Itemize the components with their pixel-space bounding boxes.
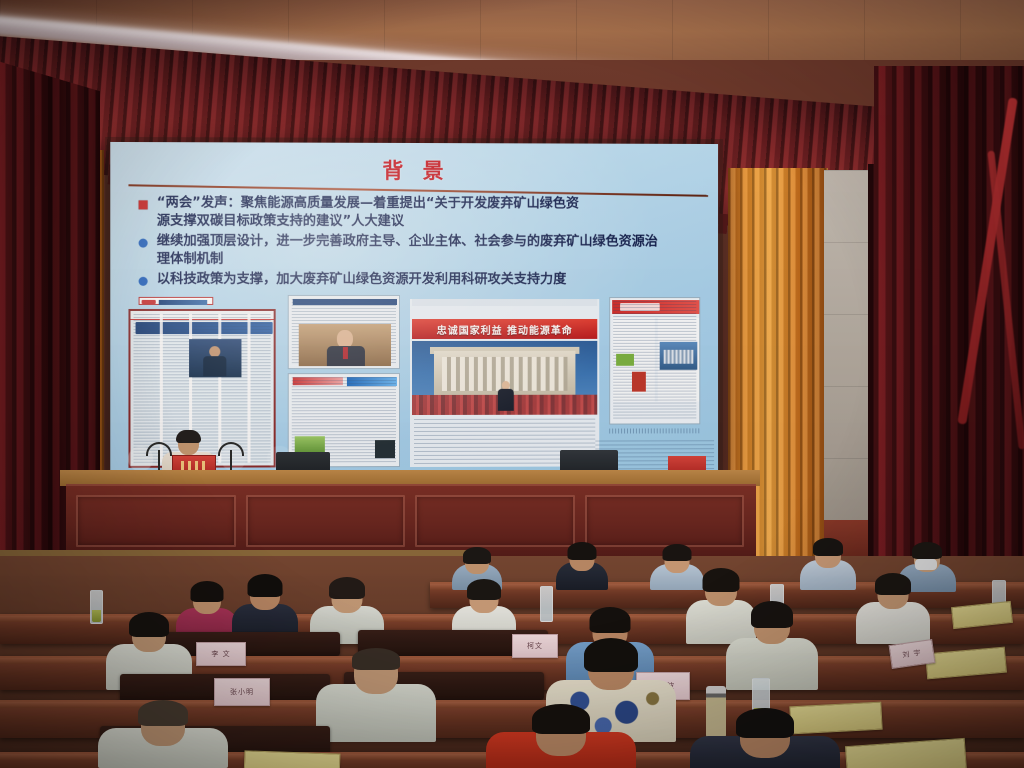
audience-hair bbox=[663, 544, 692, 561]
audience-hair bbox=[590, 607, 631, 633]
name-card-text: 李 文 bbox=[211, 649, 230, 659]
auditorium-photo: 背 景 “两会”发声：聚焦能源高质量发展—着重提出“关于开发废弃矿山绿色资 源支… bbox=[0, 0, 1024, 768]
audience-member bbox=[690, 716, 840, 768]
audience-hair bbox=[912, 542, 942, 559]
audience-hair bbox=[751, 601, 793, 628]
wall-gap bbox=[824, 170, 874, 555]
name-card: 李 文 bbox=[196, 642, 246, 666]
audience-member-bald bbox=[316, 652, 436, 742]
face-mask bbox=[915, 559, 937, 570]
audience-member bbox=[556, 546, 608, 590]
name-card-text: 张小明 bbox=[230, 687, 254, 697]
audience-hair bbox=[463, 547, 491, 564]
audience-member bbox=[98, 706, 228, 768]
wall-panel-lines bbox=[824, 170, 874, 555]
audience-hair bbox=[875, 573, 911, 595]
notepad bbox=[244, 750, 341, 768]
audience-hair bbox=[813, 538, 843, 556]
audience-hair bbox=[248, 574, 283, 597]
audience-hair bbox=[138, 700, 188, 726]
audience-hair bbox=[467, 579, 501, 600]
audience-hair bbox=[568, 542, 597, 560]
podium-panel bbox=[415, 495, 575, 547]
audience-area: 李 文 柯文 刘 宇 张小明 bbox=[0, 556, 1024, 768]
audience-hair bbox=[703, 568, 740, 592]
water-bottle bbox=[90, 590, 103, 624]
audience-hair bbox=[532, 704, 590, 734]
audience-hair bbox=[129, 612, 169, 637]
audience-hair bbox=[191, 581, 224, 602]
podium-panel bbox=[585, 495, 745, 547]
name-card: 张小明 bbox=[214, 678, 270, 706]
audience-hair bbox=[584, 638, 638, 672]
podium-panel bbox=[246, 495, 406, 547]
audience-torso bbox=[726, 638, 818, 690]
stage-podium-front bbox=[66, 484, 756, 556]
audience-member bbox=[800, 542, 856, 590]
audience-member bbox=[726, 608, 818, 690]
podium-panel-set bbox=[76, 495, 744, 547]
tea-leaves bbox=[92, 610, 101, 622]
audience-member-red-shirt bbox=[486, 712, 636, 768]
water-bottle bbox=[540, 586, 553, 622]
podium-panel bbox=[76, 495, 236, 547]
name-card-text: 刘 宇 bbox=[902, 648, 922, 661]
audience-hair bbox=[352, 648, 400, 670]
audience-hair bbox=[736, 708, 794, 738]
audience-member bbox=[856, 578, 930, 644]
presenter-hair bbox=[176, 430, 201, 443]
audience-hair bbox=[329, 577, 365, 599]
name-card-text: 柯文 bbox=[527, 641, 543, 651]
